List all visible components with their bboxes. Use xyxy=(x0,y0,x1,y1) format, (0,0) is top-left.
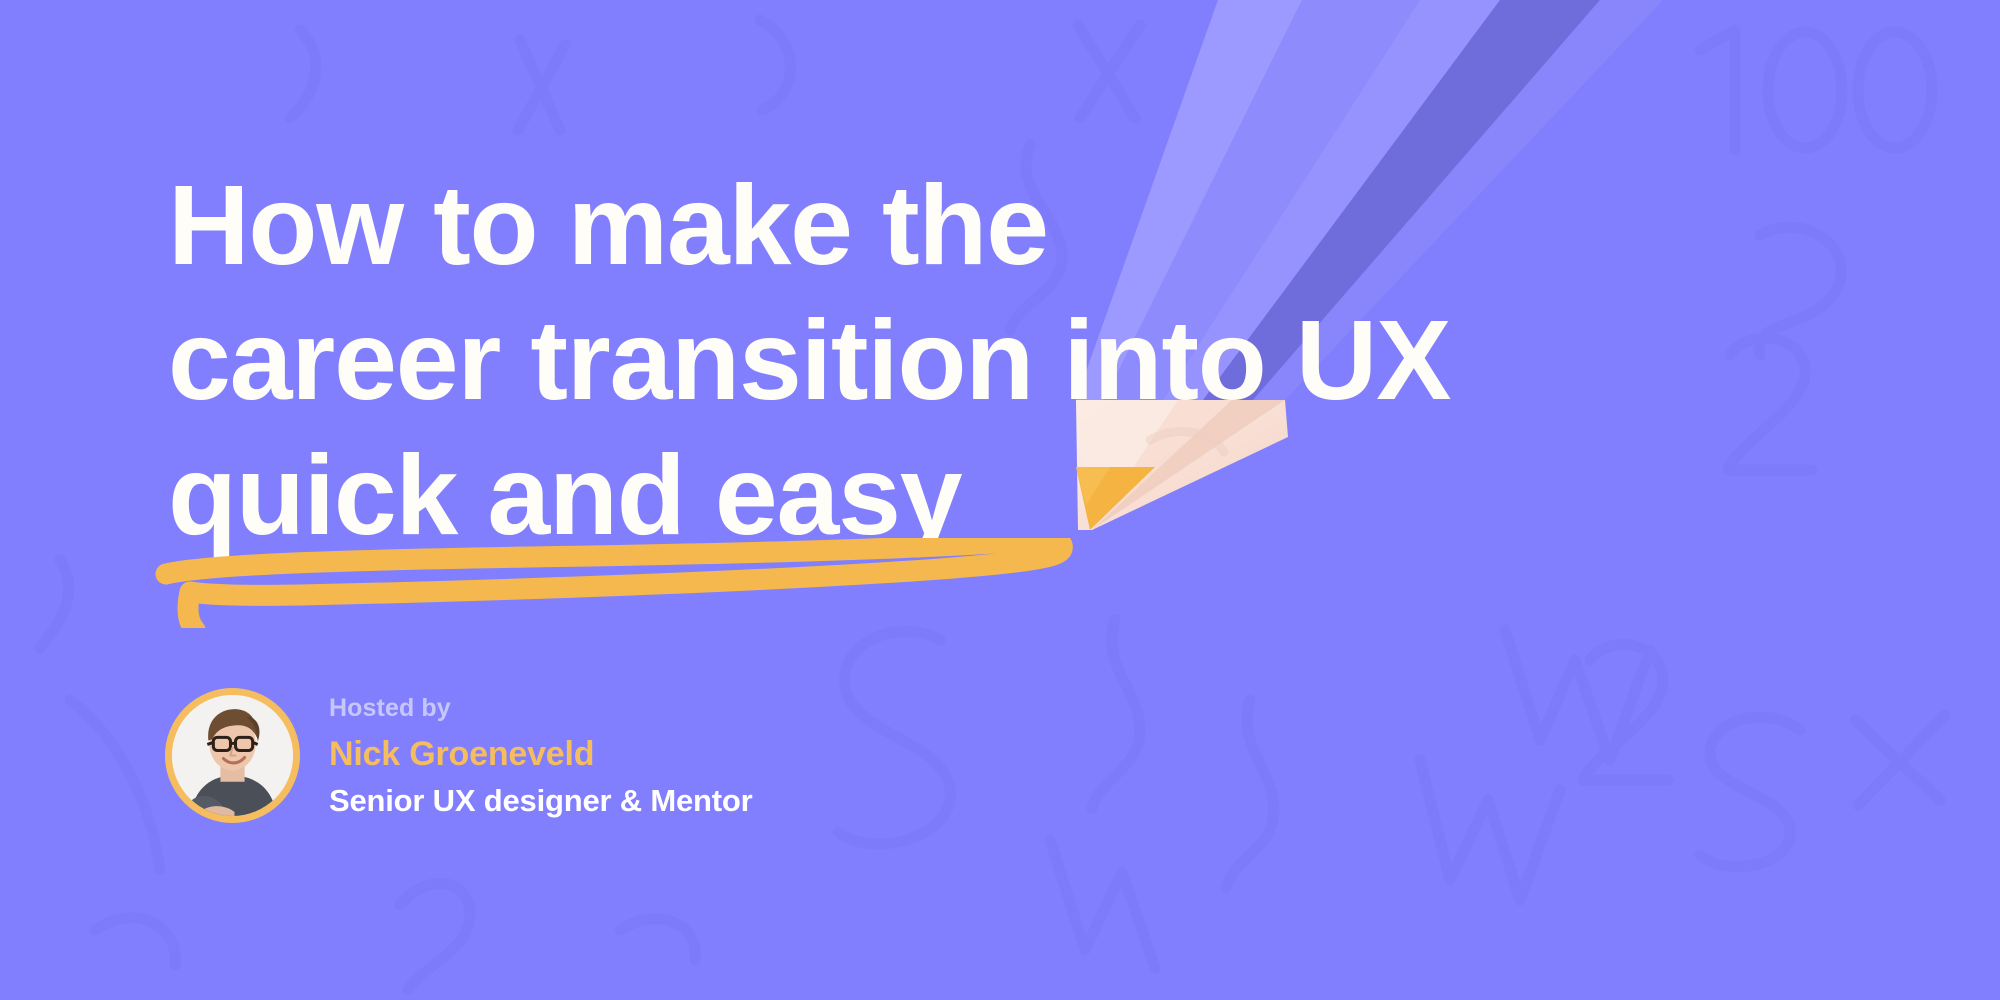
slide-canvas: How to make the career transition into U… xyxy=(0,0,2000,1000)
headline-line-1: How to make the xyxy=(168,158,1588,293)
speaker-text: Hosted by Nick Groeneveld Senior UX desi… xyxy=(329,696,753,816)
avatar xyxy=(165,688,300,823)
headline-line-2: career transition into UX xyxy=(168,293,1588,428)
speaker-block: Hosted by Nick Groeneveld Senior UX desi… xyxy=(165,688,753,823)
speaker-name: Nick Groeneveld xyxy=(329,737,753,771)
hand-drawn-underline xyxy=(150,538,1080,628)
speaker-role: Senior UX designer & Mentor xyxy=(329,785,753,816)
headline: How to make the career transition into U… xyxy=(168,158,1588,563)
hosted-by-label: Hosted by xyxy=(329,696,753,721)
